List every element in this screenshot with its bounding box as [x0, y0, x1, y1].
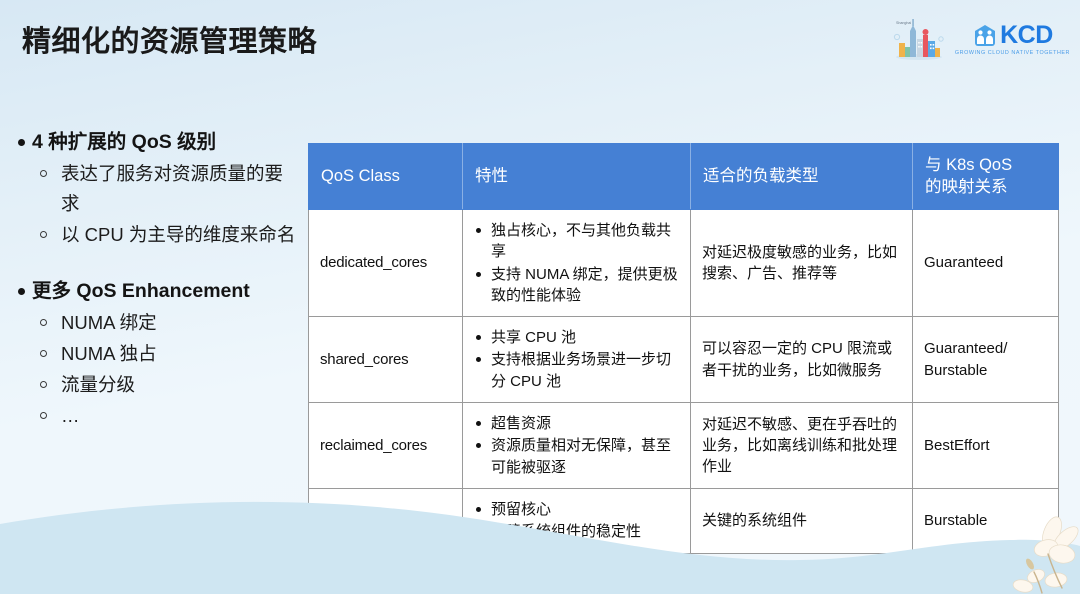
- column-header-k8s-mapping-line1: 与 K8s QoS: [925, 156, 1012, 174]
- feature-item: 资源质量相对无保障，甚至可能被驱逐: [474, 435, 679, 478]
- table-row: shared_cores 共享 CPU 池 支持根据业务场景进一步切分 CPU …: [309, 317, 1059, 403]
- feature-list: 独占核心，不与其他负载共享 支持 NUMA 绑定，提供更极致的性能体验: [474, 220, 679, 306]
- cell-workload: 对延迟不敏感、更在乎吞吐的业务，比如离线训练和批处理作业: [691, 403, 913, 489]
- bullet-ring-icon: [40, 381, 47, 388]
- bullet-level2-label: 流量分级: [61, 370, 298, 400]
- bullet-level1-item: 更多 QoS Enhancement: [18, 277, 298, 306]
- cell-qos-class: reclaimed_cores: [309, 403, 463, 489]
- bullet-level1-item: 4 种扩展的 QoS 级别: [18, 128, 298, 157]
- feature-item: 预留核心: [474, 499, 679, 520]
- feature-list: 共享 CPU 池 支持根据业务场景进一步切分 CPU 池: [474, 327, 679, 392]
- bullet-level1-label: 4 种扩展的 QoS 级别: [32, 128, 216, 157]
- bullet-level2-label: 表达了服务对资源质量的要求: [61, 159, 298, 219]
- logo-area: Shanghai: [891, 14, 1070, 64]
- kcd-logo: KCD GROWING CLOUD NATIVE TOGETHER: [955, 23, 1070, 56]
- cell-features: 共享 CPU 池 支持根据业务场景进一步切分 CPU 池: [463, 317, 691, 403]
- feature-list: 预留核心 保障系统组件的稳定性: [474, 499, 679, 543]
- bullet-level2-item: 以 CPU 为主导的维度来命名: [40, 220, 298, 250]
- kcd-logo-top: KCD: [972, 23, 1053, 48]
- feature-item: 支持根据业务场景进一步切分 CPU 池: [474, 349, 679, 392]
- qos-table-container: QoS Class 特性 适合的负载类型 与 K8s QoS 的映射关系 ded…: [308, 143, 1058, 554]
- cell-features: 超售资源 资源质量相对无保障，甚至可能被驱逐: [463, 403, 691, 489]
- cell-k8s-qos: BestEffort: [913, 403, 1059, 489]
- cell-qos-class: system_cores: [309, 488, 463, 553]
- bullet-ring-icon: [40, 412, 47, 419]
- column-header-qos-class: QoS Class: [309, 144, 463, 210]
- kcd-tagline: GROWING CLOUD NATIVE TOGETHER: [955, 50, 1070, 56]
- bullet-level2-item: 表达了服务对资源质量的要求: [40, 159, 298, 219]
- cell-qos-class: dedicated_cores: [309, 210, 463, 317]
- cell-workload: 关键的系统组件: [691, 488, 913, 553]
- bullet-level2-label: 以 CPU 为主导的维度来命名: [61, 220, 298, 250]
- bullet-ring-icon: [40, 231, 47, 238]
- bullet-level2-label: NUMA 绑定: [61, 308, 298, 338]
- bullet-group-spacer: [18, 251, 298, 277]
- svg-text:Shanghai: Shanghai: [896, 21, 911, 25]
- bullet-list: 4 种扩展的 QoS 级别 表达了服务对资源质量的要求 以 CPU 为主导的维度…: [18, 128, 298, 432]
- cell-qos-class: shared_cores: [309, 317, 463, 403]
- table-row: reclaimed_cores 超售资源 资源质量相对无保障，甚至可能被驱逐 对…: [309, 403, 1059, 489]
- column-header-workload: 适合的负载类型: [691, 144, 913, 210]
- feature-list: 超售资源 资源质量相对无保障，甚至可能被驱逐: [474, 413, 679, 478]
- feature-item: 保障系统组件的稳定性: [474, 521, 679, 542]
- feature-item: 共享 CPU 池: [474, 327, 679, 348]
- kcd-brand-text: KCD: [1000, 23, 1053, 48]
- table-body: dedicated_cores 独占核心，不与其他负载共享 支持 NUMA 绑定…: [309, 210, 1059, 554]
- bullet-ring-icon: [40, 170, 47, 177]
- cell-k8s-qos: Burstable: [913, 488, 1059, 553]
- cell-features: 独占核心，不与其他负载共享 支持 NUMA 绑定，提供更极致的性能体验: [463, 210, 691, 317]
- table-row: system_cores 预留核心 保障系统组件的稳定性 关键的系统组件 Bur…: [309, 488, 1059, 553]
- column-header-features: 特性: [463, 144, 691, 210]
- cell-workload: 对延迟极度敏感的业务，比如搜索、广告、推荐等: [691, 210, 913, 317]
- qos-class-table: QoS Class 特性 适合的负载类型 与 K8s QoS 的映射关系 ded…: [308, 143, 1059, 554]
- bullet-level2-item: NUMA 独占: [40, 339, 298, 369]
- bullet-ring-icon: [40, 350, 47, 357]
- presentation-slide: 精细化的资源管理策略 Shanghai: [0, 0, 1080, 594]
- bullet-level2-label: NUMA 独占: [61, 339, 298, 369]
- bullet-level2-label: …: [61, 401, 298, 431]
- shanghai-skyline-icon: Shanghai: [891, 15, 947, 63]
- cell-k8s-qos: Guaranteed: [913, 210, 1059, 317]
- cell-k8s-qos: Guaranteed/ Burstable: [913, 317, 1059, 403]
- bullet-level2-item: 流量分级: [40, 370, 298, 400]
- column-header-k8s-mapping-line2: 的映射关系: [925, 178, 1008, 196]
- feature-item: 独占核心，不与其他负载共享: [474, 220, 679, 263]
- bullet-level2-item: NUMA 绑定: [40, 308, 298, 338]
- page-title: 精细化的资源管理策略: [22, 25, 317, 60]
- bullet-ring-icon: [40, 319, 47, 326]
- feature-item: 超售资源: [474, 413, 679, 434]
- kcd-people-icon: [972, 23, 998, 47]
- cell-features: 预留核心 保障系统组件的稳定性: [463, 488, 691, 553]
- bullet-level2-item: …: [40, 401, 298, 431]
- feature-item: 支持 NUMA 绑定，提供更极致的性能体验: [474, 264, 679, 307]
- bullet-level1-label: 更多 QoS Enhancement: [32, 277, 250, 306]
- bullet-dot-icon: [18, 139, 25, 146]
- table-header-row: QoS Class 特性 适合的负载类型 与 K8s QoS 的映射关系: [309, 144, 1059, 210]
- table-row: dedicated_cores 独占核心，不与其他负载共享 支持 NUMA 绑定…: [309, 210, 1059, 317]
- bullet-dot-icon: [18, 288, 25, 295]
- column-header-k8s-mapping: 与 K8s QoS 的映射关系: [913, 144, 1059, 210]
- cell-workload: 可以容忍一定的 CPU 限流或者干扰的业务，比如微服务: [691, 317, 913, 403]
- table-header: QoS Class 特性 适合的负载类型 与 K8s QoS 的映射关系: [309, 144, 1059, 210]
